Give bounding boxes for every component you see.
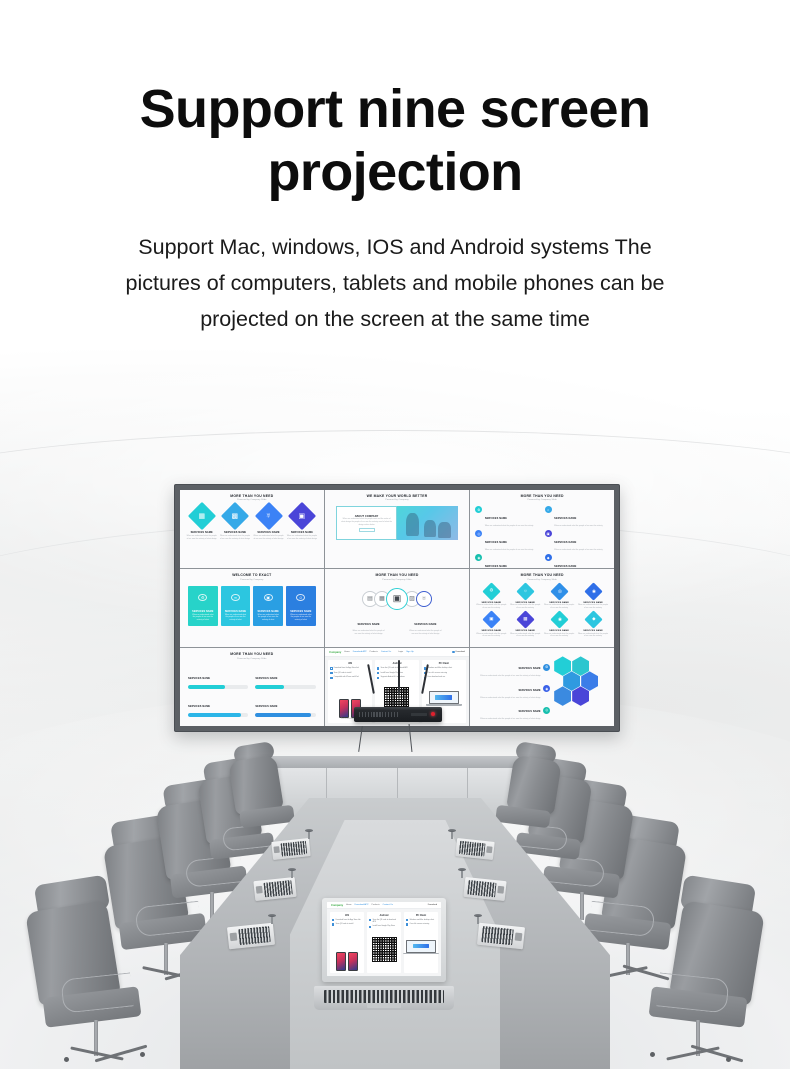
globe-icon: ◉ — [550, 610, 568, 628]
item-desc: When we understand what the people of ou… — [352, 630, 386, 635]
bar-label: SERVICES NAME — [255, 705, 277, 708]
column-heading: Android — [377, 663, 417, 665]
item-label: SERVICES NAME — [290, 610, 311, 613]
bar-label: SERVICES NAME — [255, 677, 277, 680]
item-desc: When we understand what the people of ou… — [286, 535, 318, 540]
user-icon: ☺ — [296, 594, 305, 601]
progress-item: SERVICES NAME — [188, 722, 248, 726]
nav-item[interactable]: Contact Us — [383, 904, 393, 906]
briefcase-icon: ▦ — [188, 502, 216, 530]
list-item: Windows and Mac desktop client — [424, 667, 464, 670]
diamond-row: ▦ SERVICES NAME When we understand what … — [185, 506, 319, 540]
vents — [359, 712, 398, 717]
check-icon — [369, 926, 371, 928]
item-label: SERVICES NAME — [518, 710, 540, 713]
laptop — [455, 838, 494, 860]
card-row: ⚙SERVICES NAMEWhen we understand what th… — [185, 586, 319, 626]
item-desc: When we understand what the people of ou… — [543, 633, 575, 638]
service-card: ∞SERVICES NAMEWhen we understand what th… — [221, 586, 251, 626]
site-logo: Company — [331, 903, 343, 907]
laptop-base — [314, 986, 454, 1010]
check-icon — [330, 672, 332, 674]
wall-panel-5[interactable]: MORE THAN YOU NEED Powered by Company Sl… — [325, 569, 469, 647]
list-item: Scan QR code to install — [330, 672, 370, 675]
slide-subtitle: Powered by Company Slide — [475, 499, 609, 501]
slide-title: MORE THAN YOU NEED — [185, 494, 319, 498]
progress-track — [255, 713, 315, 716]
item-label: SERVICES NAME — [485, 541, 507, 544]
about-body: When we understand what the people want … — [341, 518, 392, 526]
progress-track — [188, 713, 248, 716]
column-heading: iOS — [330, 663, 370, 665]
bullet-item: ☼SERVICES NAMEWhen we understand what th… — [545, 506, 609, 527]
eye-icon: ◉ — [584, 582, 602, 600]
hexagon — [572, 686, 589, 706]
list-item: SERVICES NAMEWhen we understand what the… — [475, 678, 550, 699]
check-icon — [406, 923, 408, 925]
slide-title: WELCOME TO EXACT — [185, 573, 319, 577]
progress-fill — [188, 713, 241, 716]
item-desc: When we understand what the people of ou… — [485, 525, 533, 528]
power-led-icon — [431, 712, 435, 716]
diamond-item: ▣ SERVICES NAME When we understand what … — [286, 506, 318, 540]
list-item: Download from the App Store link — [330, 667, 370, 670]
item-desc: When we understand what the people of ou… — [554, 525, 602, 528]
site-logo: Company — [329, 650, 341, 654]
nav-item[interactable]: Products — [370, 651, 378, 653]
hexagon — [563, 671, 580, 691]
check-icon — [406, 919, 408, 921]
sitemap-icon: ♅ — [254, 502, 282, 530]
check-icon — [332, 919, 334, 921]
slide-subtitle: Powered by Company Slide — [475, 579, 609, 581]
slide-subtitle: Powered by Company Slide — [185, 499, 319, 501]
item-label: SERVICES NAME — [554, 541, 576, 544]
site-navbar: Company Home Download APP Products Conta… — [325, 648, 469, 657]
item-desc: When we understand what the people of ou… — [256, 614, 280, 622]
gear-icon: ⚙ — [482, 582, 500, 600]
target-icon: ◎ — [550, 582, 568, 600]
chart-icon: ▩ — [516, 610, 534, 628]
video-wall: MORE THAN YOU NEED Powered by Company Sl… — [174, 484, 620, 732]
item-desc: When we understand what the people of ou… — [485, 549, 533, 552]
item-desc: When we understand what the people of ou… — [219, 535, 251, 540]
diamond-item: ◉SERVICES NAMEWhen we understand what th… — [577, 585, 609, 610]
item-label: SERVICES NAME — [554, 517, 576, 520]
check-icon — [369, 919, 371, 921]
item-desc: When we understand what the people of ou… — [224, 614, 248, 622]
hexagon — [572, 656, 589, 676]
center-laptop: Company Home Download APP Products Conta… — [314, 898, 454, 1010]
list-item: Install from Google Play Store — [377, 672, 417, 675]
about-section: ABOUT COMPANY When we understand what th… — [330, 506, 464, 540]
hexagon — [554, 656, 571, 676]
item-desc: When we understand what the people of ou… — [252, 535, 284, 540]
item-desc: When we understand what the people of ou… — [475, 718, 540, 721]
item-label: SERVICES NAME — [485, 517, 507, 520]
list-item: SERVICES NAMEWhen we understand what the… — [475, 656, 550, 677]
item-label: SERVICES NAME — [357, 623, 379, 626]
bullet-item: ▣SERVICES NAMEWhen we understand what th… — [545, 530, 609, 551]
cube-icon: ▣ — [545, 530, 552, 537]
bulb-icon: ☼ — [545, 506, 552, 513]
camera-icon: ▣ — [386, 588, 408, 610]
wall-panel-9[interactable]: SERVICES NAMEWhen we understand what the… — [470, 648, 614, 726]
about-card: ABOUT COMPANY When we understand what th… — [336, 506, 397, 540]
check-icon — [377, 672, 379, 674]
progress-item: SERVICES NAME — [188, 694, 248, 717]
list-item: Free download and use — [424, 676, 464, 679]
laptop-screen[interactable]: Company Home Download APP Products Conta… — [327, 902, 441, 976]
check-icon — [377, 667, 379, 669]
progress-fill — [188, 685, 225, 688]
bullet-item: ⚙SERVICES NAMEWhen we understand what th… — [475, 506, 539, 527]
business-team-photo — [397, 506, 458, 540]
gear-icon: ⚙ — [198, 594, 207, 601]
hexagon-section: SERVICES NAMEWhen we understand what the… — [475, 656, 609, 704]
slide-title: WE MAKE YOUR WORLD BETTER — [330, 494, 464, 498]
wall-panel-7[interactable]: MORE THAN YOU NEED Powered by Company Sl… — [180, 648, 324, 726]
slide-title: MORE THAN YOU NEED — [330, 573, 464, 577]
download-button[interactable]: Download — [428, 904, 437, 906]
item-desc: When we understand what the people of ou… — [509, 604, 541, 609]
diamond-item: ◆SERVICES NAMEWhen we understand what th… — [577, 613, 609, 638]
check-icon — [330, 677, 332, 679]
wall-panel-6[interactable]: MORE THAN YOU NEED Powered by Company Sl… — [470, 569, 614, 647]
check-icon — [332, 923, 334, 925]
bullet-item: ◆SERVICES NAMEWhen we understand what th… — [545, 554, 609, 567]
download-column-pc: PC Client Windows and Mac desktop client… — [404, 912, 438, 973]
item-desc: When we understand what the people of ou… — [509, 633, 541, 638]
list-item: Compatible with iPhone and iPad — [330, 676, 370, 679]
slide-subtitle: Powered by Company Slide — [330, 579, 464, 581]
list-item: Supports Android 6.0 and above — [377, 676, 417, 679]
wall-panel-3[interactable]: MORE THAN YOU NEED Powered by Company Sl… — [470, 490, 614, 568]
diamond-item: ♅ SERVICES NAME When we understand what … — [252, 506, 284, 540]
check-icon — [330, 667, 332, 669]
item-label: SERVICES NAME — [225, 610, 246, 613]
hexagon-list: SERVICES NAMEWhen we understand what the… — [475, 656, 550, 704]
link-icon: ∞ — [231, 594, 240, 601]
circle-chain: ▤ ▦ ▣ ▨ ♅ — [330, 588, 464, 610]
nav-item[interactable]: Contact Us — [381, 651, 391, 653]
progress-item: SERVICES NAME — [255, 694, 315, 717]
bulb-icon: ☼ — [516, 582, 534, 600]
item-label: SERVICES NAME — [518, 667, 540, 670]
service-card: ☺SERVICES NAMEWhen we understand what th… — [286, 586, 316, 626]
globe-icon: ◉ — [475, 554, 482, 561]
item-label: SERVICES NAME — [509, 630, 541, 632]
gear-icon: ⚙ — [475, 506, 482, 513]
port-strip — [411, 713, 427, 716]
video-wall-grid: MORE THAN YOU NEED Powered by Company Sl… — [180, 490, 614, 726]
item-label: SERVICES NAME — [414, 623, 436, 626]
router-body — [354, 707, 442, 722]
progress-fill — [255, 685, 284, 688]
item-label: SERVICES NAME — [485, 565, 507, 567]
diamond-item: ▣SERVICES NAMEWhen we understand what th… — [475, 613, 507, 638]
item-desc: When we understand what the people of ou… — [191, 614, 215, 622]
service-card: ▣SERVICES NAMEWhen we understand what th… — [253, 586, 283, 626]
item-label: SERVICES NAME — [192, 610, 213, 613]
progress-grid: SERVICES NAME SERVICES NAME SERVICES NAM… — [185, 666, 319, 726]
progress-track — [188, 685, 248, 688]
antenna-icon — [398, 660, 400, 694]
shield-icon: ◆ — [584, 610, 602, 628]
nav-item[interactable]: Download APP — [355, 904, 369, 906]
diamond-item: ▩SERVICES NAMEWhen we understand what th… — [509, 613, 541, 638]
laptop-illustration — [429, 691, 459, 708]
download-icon — [452, 651, 454, 653]
item-label: SERVICES NAME — [577, 630, 609, 632]
shield-icon: ◆ — [545, 554, 552, 561]
diamond-item: ☼SERVICES NAMEWhen we understand what th… — [509, 585, 541, 610]
download-column-android: Android Scan the QR code to download APK… — [367, 912, 401, 973]
bar-label: SERVICES NAME — [188, 705, 210, 708]
wall-panel-2[interactable]: WE MAKE YOUR WORLD BETTER Powered by Com… — [325, 490, 469, 568]
download-column-ios: iOS Download from the App Store link Sca… — [330, 912, 364, 973]
nav-login[interactable]: Login — [398, 651, 403, 653]
nav-item[interactable]: Products — [371, 904, 379, 906]
item-desc: When we understand what the people of ou… — [475, 633, 507, 638]
nav-signup[interactable]: Sign Up — [406, 651, 413, 653]
target-icon: ◎ — [475, 530, 482, 537]
trackpad[interactable] — [367, 1003, 401, 1008]
item-label: SERVICES NAME — [475, 630, 507, 632]
keyboard[interactable] — [324, 990, 444, 1003]
diamond-item: ▦ SERVICES NAME When we understand what … — [186, 506, 218, 540]
item-label: SERVICES NAME — [543, 630, 575, 632]
progress-track — [255, 685, 315, 688]
gear-icon: ⚙ — [543, 664, 550, 671]
progress-item: SERVICES NAME — [188, 666, 248, 689]
item-desc: When we understand what the people of ou… — [577, 633, 609, 638]
slide-subtitle: Powered by Company — [330, 499, 464, 501]
item-desc: When we understand what the people of ou… — [475, 604, 507, 609]
progress-fill — [255, 713, 311, 716]
item-desc: When we understand what the people of ou… — [554, 549, 602, 552]
item-desc: When we understand what the people of ou… — [289, 614, 313, 622]
wall-panel-4[interactable]: WELCOME TO EXACT Powered by Company ⚙SER… — [180, 569, 324, 647]
sitemap-icon: ♅ — [416, 591, 432, 607]
item-desc: When we understand what the people of ou… — [577, 604, 609, 609]
slide-title: MORE THAN YOU NEED — [185, 652, 319, 656]
diamond-item: ⚙SERVICES NAMEWhen we understand what th… — [475, 585, 507, 610]
hero-text-block: Support nine screen projection Support M… — [0, 0, 790, 337]
item-label: SERVICES NAME — [554, 565, 576, 567]
diamond-grid: ⚙SERVICES NAMEWhen we understand what th… — [475, 585, 609, 638]
page-subtitle: Support Mac, windows, IOS and Android sy… — [0, 230, 790, 337]
read-more-button[interactable] — [359, 528, 375, 532]
progress-item: SERVICES NAME — [255, 666, 315, 689]
honeycomb — [550, 656, 609, 704]
list-item: One click screen mirroring — [424, 672, 464, 675]
bar-label: SERVICES NAME — [188, 677, 210, 680]
item-desc: When we understand what the people of ou… — [186, 535, 218, 540]
service-card: ⚙SERVICES NAMEWhen we understand what th… — [188, 586, 218, 626]
bullet-item: ◎SERVICES NAMEWhen we understand what th… — [475, 530, 539, 551]
diamond-item: ◎SERVICES NAMEWhen we understand what th… — [543, 585, 575, 610]
download-button[interactable]: Download — [452, 651, 464, 653]
chain-captions: SERVICES NAMEWhen we understand what the… — [330, 612, 464, 636]
list-item: SERVICES NAMEWhen we understand what the… — [475, 699, 550, 720]
laptop-lid: Company Home Download APP Products Conta… — [322, 898, 446, 982]
chart-icon: ▩ — [221, 502, 249, 530]
nav-item[interactable]: Home — [344, 651, 350, 653]
column-heading: PC Client — [424, 663, 464, 665]
globe-icon: ◉ — [543, 685, 550, 692]
list-item: Scan the QR code to download APK — [377, 667, 417, 670]
item-label: SERVICES NAME — [518, 689, 540, 692]
monitor-icon: ▣ — [264, 594, 273, 601]
bullet-grid: ⚙SERVICES NAMEWhen we understand what th… — [475, 506, 609, 567]
cube-icon: ▣ — [482, 610, 500, 628]
laptop — [463, 877, 506, 901]
diamond-item: ◉SERVICES NAMEWhen we understand what th… — [543, 613, 575, 638]
slide-title: MORE THAN YOU NEED — [475, 494, 609, 498]
building-icon: ▣ — [288, 502, 316, 530]
item-label: SERVICES NAME — [258, 610, 279, 613]
progress-item: SERVICES NAME — [255, 722, 315, 726]
hexagon — [554, 686, 571, 706]
check-icon — [377, 677, 379, 679]
item-desc: When we understand what the people of ou… — [408, 630, 442, 635]
nav-item[interactable]: Home — [346, 904, 352, 906]
hexagon — [581, 671, 598, 691]
target-icon: ◎ — [543, 707, 550, 714]
item-desc: When we understand what the people of ou… — [543, 604, 575, 609]
nav-item[interactable]: Download APP — [353, 651, 367, 653]
page-title: Support nine screen projection — [0, 78, 790, 204]
qr-code — [372, 937, 397, 962]
slide-subtitle: Powered by Company — [185, 579, 319, 581]
wall-panel-1[interactable]: MORE THAN YOU NEED Powered by Company Sl… — [180, 490, 324, 568]
laptop — [477, 923, 525, 950]
diamond-item: ▩ SERVICES NAME When we understand what … — [219, 506, 251, 540]
bullet-item: ◉SERVICES NAMEWhen we understand what th… — [475, 554, 539, 567]
slide-subtitle: Powered by Company Slide — [185, 658, 319, 660]
slide-title: MORE THAN YOU NEED — [475, 573, 609, 577]
